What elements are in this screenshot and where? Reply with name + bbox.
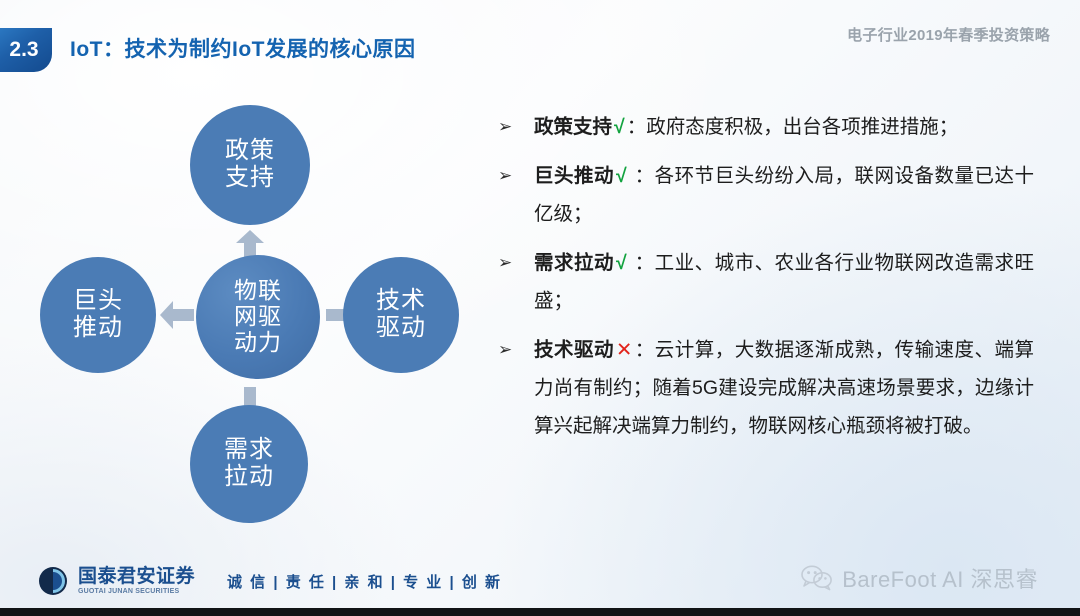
guotai-junan-logo-icon	[38, 566, 68, 596]
bullet-item-giants: ➢巨头推动√ ：各环节巨头纷纷入局，联网设备数量已达十亿级；	[494, 157, 1034, 233]
bullet-item-policy: ➢政策支持√：政府态度积极，出台各项推进措施；	[494, 108, 1034, 146]
brand-name-en: GUOTAI JUNAN SECURITIES	[78, 588, 195, 595]
node-policy-line-2: 支持	[225, 165, 275, 192]
bullet-arrow-icon: ➢	[498, 157, 520, 195]
bullet-item-demand: ➢需求拉动√ ：工业、城市、农业各行业物联网改造需求旺盛；	[494, 244, 1034, 320]
section-number-label: 2.3	[9, 38, 38, 62]
bullet-item-technology: ➢技术驱动✕：云计算，大数据逐渐成熟，传输速度、端算力尚有制约；随着5G建设完成…	[494, 331, 1034, 445]
bullet-arrow-icon: ➢	[498, 108, 520, 146]
node-center-line-2: 网驱	[234, 304, 282, 330]
bottom-bar	[0, 608, 1080, 616]
node-demand-line-1: 需求	[224, 437, 274, 464]
bullet-lead-technology: 技术驱动	[534, 339, 614, 361]
diagram-node-demand: 需求 拉动	[190, 405, 308, 523]
cross-icon-technology: ✕	[614, 339, 634, 361]
iot-driver-diagram: 政策 支持 巨头 推动 物联 网驱 动力	[30, 100, 480, 530]
bullet-arrow-icon: ➢	[498, 331, 520, 369]
bullet-body-policy: ：政府态度积极，出台各项推进措施；	[627, 116, 959, 138]
bullet-lead-giants: 巨头推动	[534, 165, 614, 187]
brand-name-cn: 国泰君安证券	[78, 567, 195, 586]
footer-brand: 国泰君安证券 GUOTAI JUNAN SECURITIES 诚 信 | 责 任…	[38, 566, 502, 596]
wechat-icon	[801, 565, 833, 591]
node-center-line-3: 动力	[234, 330, 282, 356]
page-title: IoT：技术为制约IoT发展的核心原因	[70, 33, 415, 63]
arrow-left-icon	[160, 301, 194, 329]
check-icon-demand: √	[614, 252, 629, 274]
node-giants-line-1: 巨头	[73, 288, 123, 315]
section-number-badge: 2.3	[0, 28, 52, 72]
node-center-line-1: 物联	[234, 278, 282, 304]
node-giants-line-2: 推动	[73, 315, 123, 342]
slide-root: 电子行业2019年春季投资策略 2.3 IoT：技术为制约IoT发展的核心原因 …	[0, 0, 1080, 616]
check-icon-giants: √	[614, 165, 629, 187]
watermark: BareFoot AI 深思睿	[801, 562, 1038, 594]
bullet-arrow-icon: ➢	[498, 244, 520, 282]
diagram-node-technology: 技术 驱动	[343, 257, 459, 373]
diagram-node-policy: 政策 支持	[190, 105, 310, 225]
brand-text: 国泰君安证券 GUOTAI JUNAN SECURITIES	[78, 567, 195, 595]
bullet-list: ➢政策支持√：政府态度积极，出台各项推进措施； ➢巨头推动√ ：各环节巨头纷纷入…	[494, 108, 1034, 456]
diagram-node-giants: 巨头 推动	[40, 257, 156, 373]
node-demand-line-2: 拉动	[224, 464, 274, 491]
header-subtitle: 电子行业2019年春季投资策略	[847, 24, 1050, 45]
watermark-label: BareFoot AI 深思睿	[842, 562, 1038, 594]
node-technology-line-1: 技术	[376, 288, 426, 315]
bullet-lead-demand: 需求拉动	[534, 252, 614, 274]
brand-slogan: 诚 信 | 责 任 | 亲 和 | 专 业 | 创 新	[227, 571, 502, 592]
bullet-lead-policy: 政策支持	[534, 116, 612, 138]
node-policy-line-1: 政策	[225, 138, 275, 165]
check-icon-policy: √	[612, 116, 627, 138]
diagram-node-center: 物联 网驱 动力	[196, 255, 320, 379]
node-technology-line-2: 驱动	[376, 315, 426, 342]
